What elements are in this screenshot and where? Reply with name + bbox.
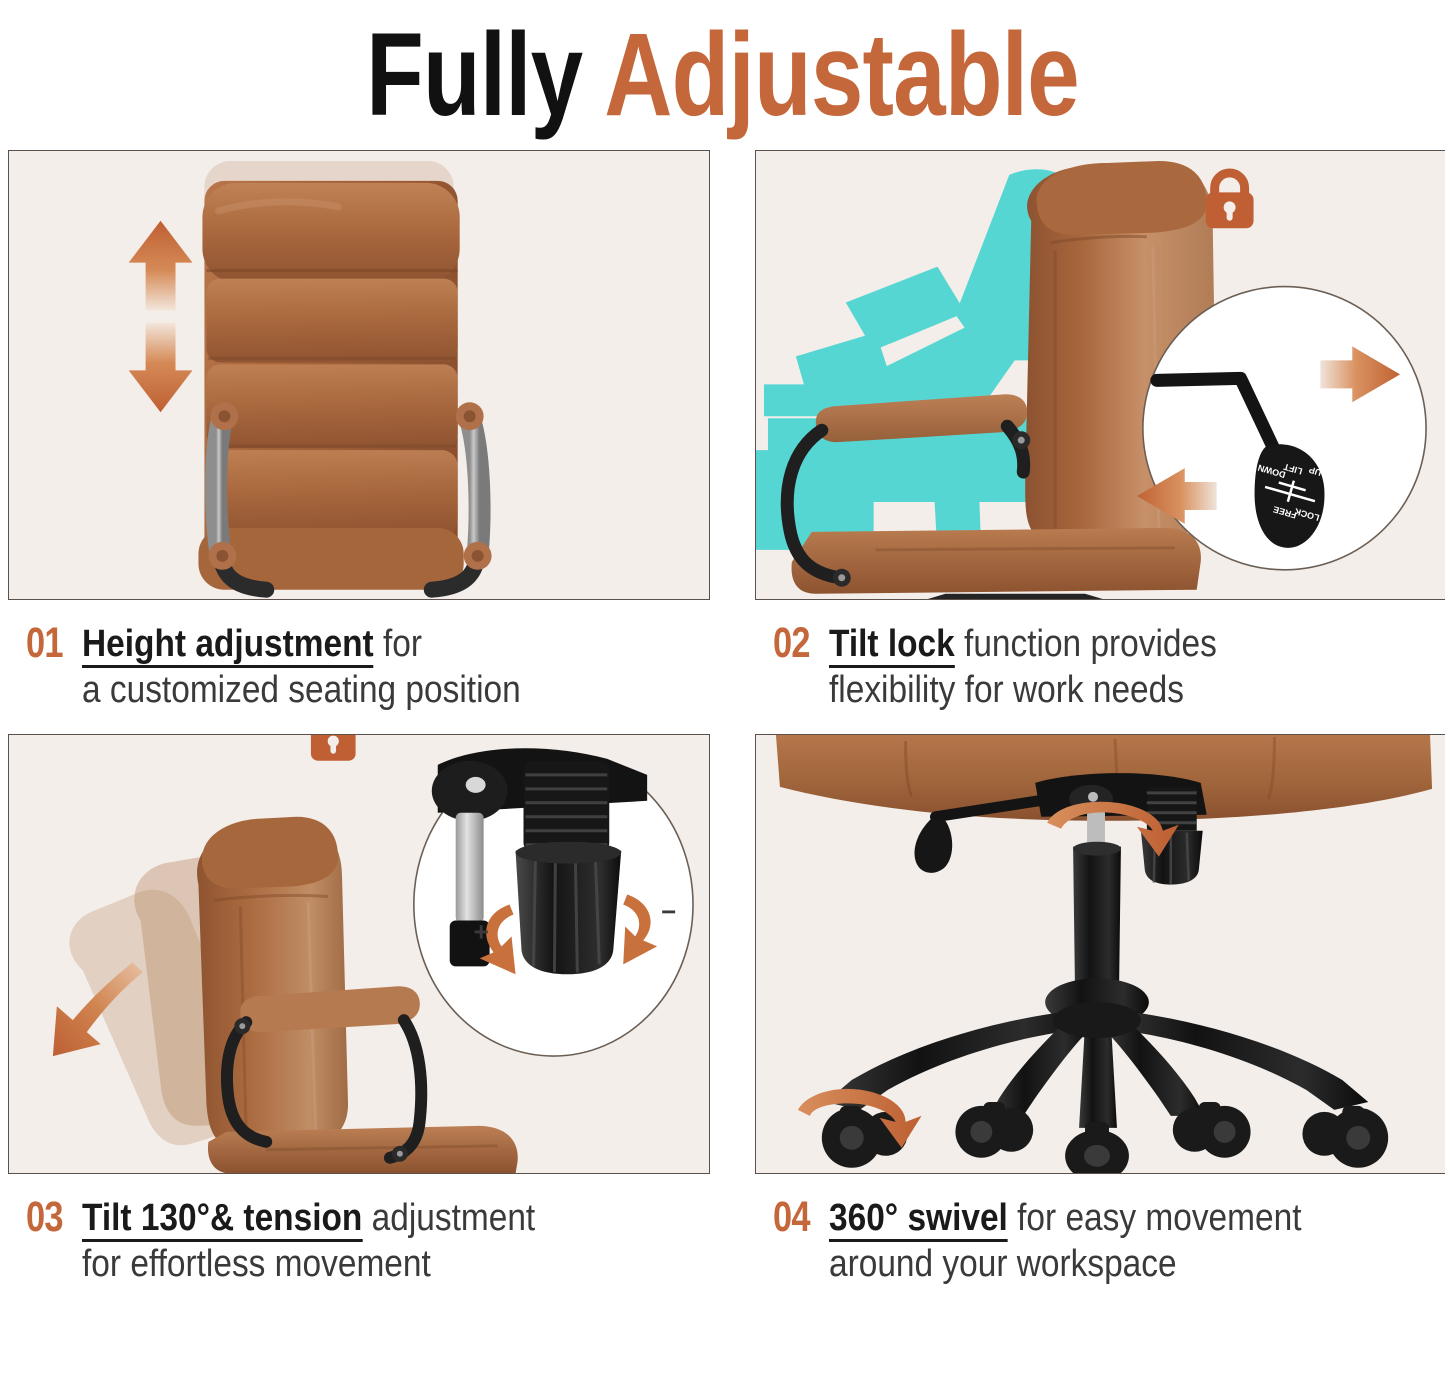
- feature-headline: Tilt 130°& tension: [82, 1197, 362, 1242]
- feature-headline-rest: adjustment: [362, 1197, 535, 1239]
- title-part-fully: Fully: [366, 9, 604, 141]
- feature-subline: for effortless movement: [82, 1242, 535, 1286]
- feature-headline: 360° swivel: [829, 1197, 1008, 1242]
- feature-text: Tilt lock function provides flexibility …: [829, 622, 1217, 712]
- feature-headline: Height adjustment: [82, 623, 374, 668]
- chair-base-star: [826, 978, 1368, 1128]
- tilt-lock-illustration: FREE LOCK DOWN LIFT UP: [756, 151, 1445, 600]
- feature-number: 03: [26, 1196, 63, 1239]
- feature-number: 02: [773, 622, 810, 665]
- feature-02-caption: 02 Tilt lock function provides flexibili…: [755, 600, 1445, 712]
- feature-headline-rest: for easy movement: [1008, 1197, 1302, 1239]
- feature-number: 01: [26, 622, 63, 665]
- feature-number: 04: [773, 1196, 810, 1239]
- feature-text: Tilt 130°& tension adjustment for effort…: [82, 1196, 535, 1286]
- tilt-tension-panel: + −: [8, 734, 710, 1174]
- knob-minus-label: −: [661, 899, 676, 927]
- padlock-icon: [311, 735, 356, 761]
- swivel-illustration: [756, 735, 1445, 1174]
- knob-plus-label: +: [474, 919, 489, 947]
- feature-subline: a customized seating position: [82, 668, 521, 712]
- arrow-up-icon: [129, 221, 193, 311]
- feature-subline: around your workspace: [829, 1242, 1301, 1286]
- feature-04-caption: 04 360° swivel for easy movement around …: [755, 1174, 1445, 1286]
- title-part-adjustable: Adjustable: [604, 9, 1079, 141]
- feature-subline: flexibility for work needs: [829, 668, 1217, 712]
- feature-03-caption: 03 Tilt 130°& tension adjustment for eff…: [8, 1174, 710, 1286]
- feature-02: FREE LOCK DOWN LIFT UP: [755, 150, 1445, 712]
- swivel-panel: [755, 734, 1445, 1174]
- tilt-tension-illustration: + −: [9, 735, 709, 1174]
- height-adjustment-illustration: [9, 151, 709, 600]
- caster-right: [1302, 1106, 1388, 1168]
- feature-01: 01 Height adjustment for a customized se…: [8, 150, 710, 712]
- page-title: Fully Adjustable: [0, 0, 1445, 150]
- feature-01-caption: 01 Height adjustment for a customized se…: [8, 600, 710, 712]
- feature-headline-rest: for: [374, 623, 422, 665]
- feature-03: + − 03 Tilt 130°& tension adjustment for…: [8, 734, 710, 1286]
- feature-04: 04 360° swivel for easy movement around …: [755, 734, 1445, 1286]
- tilt-mechanism: [1035, 773, 1207, 884]
- tilt-lock-panel: FREE LOCK DOWN LIFT UP: [755, 150, 1445, 600]
- caster-center: [1065, 1122, 1129, 1174]
- feature-headline-rest: function provides: [955, 623, 1217, 665]
- feature-grid: 01 Height adjustment for a customized se…: [0, 150, 1445, 1286]
- tension-knob-inset: + −: [414, 748, 693, 1056]
- arrow-down-icon: [129, 323, 193, 413]
- padlock-icon: [1206, 173, 1254, 228]
- gas-lift-cylinder: [1073, 805, 1121, 996]
- feature-headline: Tilt lock: [829, 623, 955, 668]
- feature-text: Height adjustment for a customized seati…: [82, 622, 521, 712]
- feature-text: 360° swivel for easy movement around you…: [829, 1196, 1301, 1286]
- height-adjustment-panel: [8, 150, 710, 600]
- chair-back: [198, 181, 463, 590]
